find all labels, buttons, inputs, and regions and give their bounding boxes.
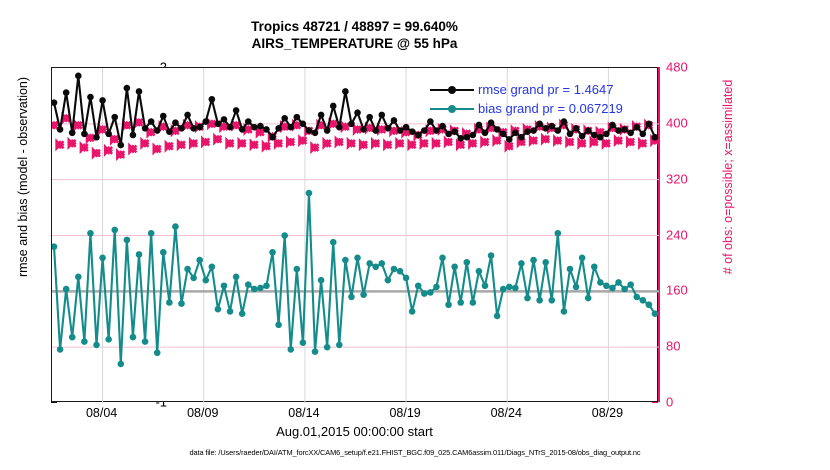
series-point [130,132,137,139]
series-point [409,308,416,315]
series-point [567,266,574,273]
series-point [294,266,301,273]
x-tick-label: 08/14 [269,406,339,420]
x-tick-label: 08/09 [168,406,238,420]
series-point [548,123,555,130]
series-point [111,227,118,234]
chart-subtitle: AIRS_TEMPERATURE @ 55 hPa [51,35,658,52]
series-point [609,122,616,129]
series-point [184,266,191,273]
series-point [451,263,458,270]
series-point [215,121,222,128]
series-point [287,124,294,131]
series-point [148,118,155,125]
series-point [427,289,434,296]
series-point [184,112,191,119]
series-point [646,301,653,308]
series-point [318,112,325,119]
series-point [409,128,416,135]
y-tick-label-right: 480 [666,60,726,75]
series-point [561,118,568,125]
series-point [154,349,161,356]
series-point [555,230,562,237]
series-point [579,255,586,262]
series-point [178,125,185,132]
series-point [166,128,173,135]
series-point [366,114,373,121]
legend-item-label: bias grand pr = 0.067219 [478,99,623,118]
series-point [445,301,452,308]
series-point [209,96,216,103]
series-point [603,282,610,289]
series-point [336,342,343,349]
series-point [445,131,452,138]
series-point [342,88,349,95]
series-point [518,260,525,267]
series-point [190,275,197,282]
chart-title: Tropics 48721 / 48897 = 99.640% [51,18,658,35]
series-point [621,286,628,293]
series-point [518,134,525,141]
series-point [275,322,282,329]
y-tick-label-right: 320 [666,171,726,186]
series-point [172,223,179,230]
series-point [403,275,410,282]
series-point [530,127,537,134]
legend-item[interactable]: bias grand pr = 0.067219 [430,99,623,118]
series-point [124,237,131,244]
series-point [421,127,428,134]
series-point [196,257,203,264]
series-point [640,297,647,304]
series-point [75,274,82,281]
series-point [81,338,88,345]
series-point [257,285,264,292]
series-point [385,125,392,132]
data-file-footer: data file: /Users/raeder/DAI/ATM_forcXX/… [0,448,830,457]
series-point [190,125,197,132]
series-point [542,125,549,132]
series-point [360,126,367,133]
series-point [99,255,106,262]
series-point [166,299,173,306]
series-point [379,260,386,267]
series-point [627,129,634,136]
series-point [615,127,622,134]
series-point [488,119,495,126]
series-point [269,134,276,141]
legend-item-label: rmse grand pr = 1.4647 [478,80,614,99]
series-point [136,251,143,258]
series-point [397,127,404,134]
series-point [306,127,313,134]
series-point [366,260,373,267]
series-point [348,294,355,301]
series-point [209,263,216,270]
series-point [312,129,319,136]
legend-marker-icon [430,84,474,96]
series-point [579,133,586,140]
series-point [263,126,270,133]
series-point [603,131,610,138]
series-point [93,342,100,349]
series-point [482,129,489,136]
series-point [142,125,149,132]
series-point [117,361,124,368]
series-point [251,286,258,293]
y-tick-label-right: 0 [666,395,726,410]
series-point [427,118,434,125]
series-point [536,297,543,304]
series-point [548,297,555,304]
series-point [117,142,124,149]
series-point [379,112,386,119]
series-point [391,266,398,273]
series-point [512,129,519,136]
series-point [567,131,574,138]
series-point [160,249,167,256]
series-point [281,115,288,122]
series-point [506,284,513,291]
series-point [652,134,659,141]
series-point [324,344,331,351]
series-bias [52,190,658,367]
series-point [476,122,483,129]
series-point [318,277,325,284]
series-point [251,124,258,131]
series-point [609,285,616,292]
series-point [69,334,76,341]
series-point [470,132,477,139]
x-tick-label: 08/24 [471,406,541,420]
series-point [269,249,276,256]
series-point [470,299,477,306]
y-axis-left-label: rmse and bias (model - observation) [16,2,30,352]
series-point [597,134,604,141]
series-point [536,121,543,128]
series-point [542,259,549,266]
series-point [348,121,355,128]
series-point [597,279,604,286]
series-point [354,255,361,262]
series-point [494,126,501,133]
series-point [463,259,470,266]
series-point [196,124,203,131]
series-point [573,284,580,291]
series-point [633,124,640,131]
series-point [397,268,404,275]
series-point [287,346,294,353]
series-point [494,313,501,320]
series-point [476,268,483,275]
series-point [130,334,137,341]
series-point [239,126,246,133]
series-point [263,282,270,289]
series-point [354,109,361,116]
series-point [615,279,622,286]
series-point [573,125,580,132]
series-point [160,113,167,120]
series-point [372,263,379,270]
series-point [585,295,592,302]
series-point [87,230,94,237]
series-point [257,123,264,130]
series-point [105,336,112,343]
series-point [524,128,531,135]
series-point [488,252,495,259]
series-point [111,114,118,121]
series-point [142,338,149,345]
series-point [57,346,64,353]
series-point [372,127,379,134]
series-point [239,310,246,317]
series-point [342,257,349,264]
series-point [391,117,398,124]
series-point [591,132,598,139]
series-point [530,257,537,264]
series-point [275,125,282,132]
series-point [93,134,100,141]
series-point [500,131,507,138]
series-point [300,339,307,346]
series-point [300,121,307,128]
series-point [506,136,513,143]
series-point [221,116,228,123]
series-point [63,89,70,96]
series-point [633,294,640,301]
series-point [360,291,367,298]
series-point [306,190,313,197]
series-point [457,299,464,306]
series-point [451,128,458,135]
series-point [555,127,562,134]
x-tick-label: 08/29 [572,406,642,420]
series-point [433,284,440,291]
y-tick-label-right: 240 [666,227,726,242]
x-tick-label: 08/19 [370,406,440,420]
series-point [136,88,143,95]
series-point [57,126,64,133]
series-point [221,282,228,289]
series-point [227,124,234,131]
series-point [439,123,446,130]
series-point [281,232,288,239]
legend-item[interactable]: rmse grand pr = 1.4647 [430,80,623,99]
series-point [324,127,331,134]
series-point [172,119,179,126]
series-point [245,118,252,125]
series-point [52,243,57,250]
series-point [415,282,422,289]
series-point [227,308,234,315]
series-point [81,131,88,138]
series-point [63,286,70,293]
series-point [591,263,598,270]
series-point [415,132,422,139]
series-point [148,230,155,237]
series-point [385,277,392,284]
series-point [621,126,628,133]
x-tick-label: 08/04 [67,406,137,420]
series-point [52,99,57,106]
series-point [627,281,634,288]
series-point [439,255,446,262]
series-line [54,193,655,364]
series-point [561,308,568,315]
series-point [500,286,507,293]
series-point [640,131,647,138]
series-point [652,310,659,317]
series-point [330,239,337,246]
series-point [403,124,410,131]
series-point [233,107,240,114]
legend-marker-icon [430,103,474,115]
series-point [124,85,131,92]
series-point [294,114,301,121]
series-point [215,306,222,313]
series-point [482,282,489,289]
figure-root: Tropics 48721 / 48897 = 99.640% AIRS_TEM… [0,0,830,470]
series-point [154,127,161,134]
series-point [336,124,343,131]
series-point [524,295,531,302]
series-point [457,135,464,142]
y-tick-label-right: 160 [666,283,726,298]
y-tick-label-right: 400 [666,115,726,130]
x-axis-label: Aug.01,2015 00:00:00 start [51,424,658,439]
series-point [463,134,470,141]
series-point [646,121,653,128]
series-point [99,97,106,104]
series-point [330,103,337,110]
series-point [178,300,185,307]
series-point [512,285,519,292]
series-point [421,290,428,297]
series-point [75,73,82,80]
series-point [245,281,252,288]
plot-canvas [52,68,659,403]
series-point [312,348,319,355]
chart-legend: rmse grand pr = 1.4647bias grand pr = 0.… [430,80,623,118]
series-point [202,277,209,284]
series-point [87,94,94,101]
y-tick-label-right: 80 [666,339,726,354]
series-point [585,127,592,134]
chart-title-block: Tropics 48721 / 48897 = 99.640% AIRS_TEM… [51,18,658,52]
series-point [105,131,112,138]
series-point [69,129,76,136]
series-point [202,118,209,125]
series-point [233,274,240,281]
series-point [433,127,440,134]
